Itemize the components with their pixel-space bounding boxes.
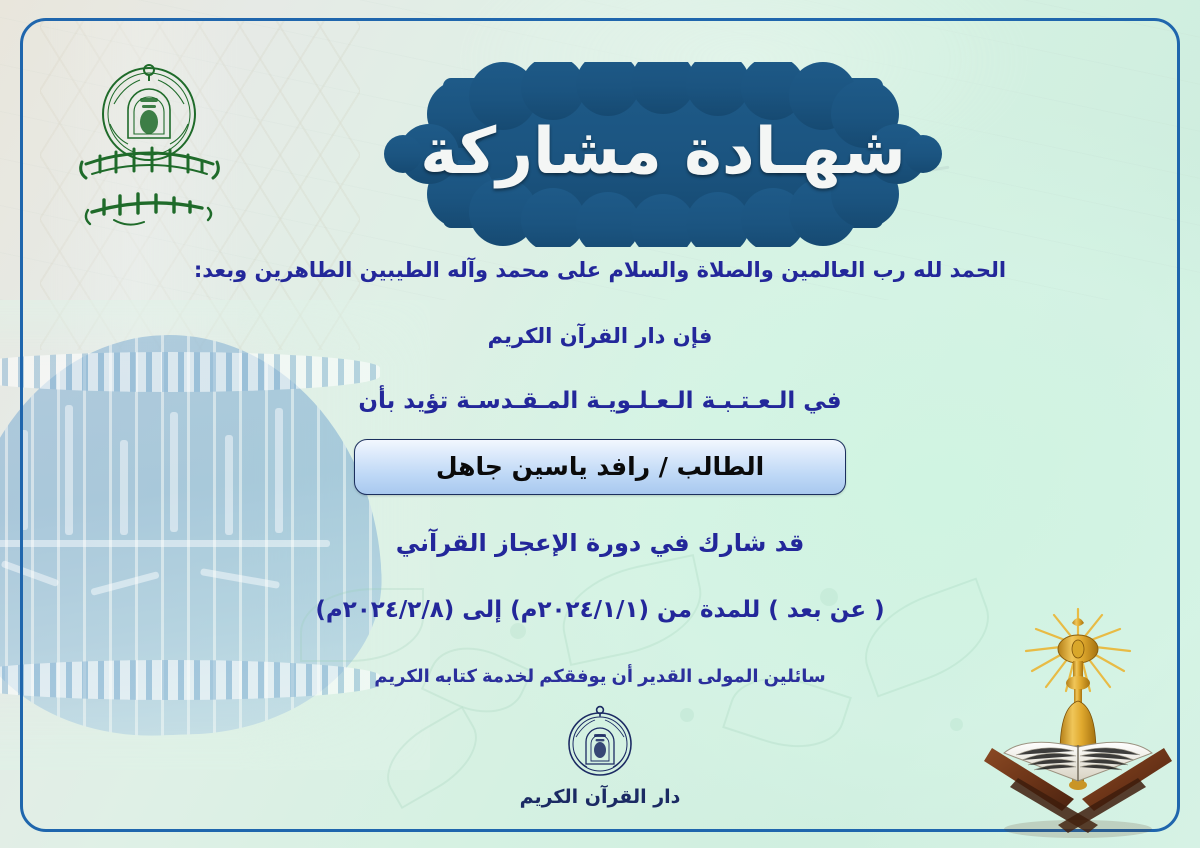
recipient-name-box: الطالب / رافد ياسين جاهل (354, 439, 846, 495)
dar-al-quran-seal-icon (562, 704, 638, 780)
quran-on-rehal-illustration (978, 603, 1178, 838)
course-line: قد شارك في دورة الإعجاز القرآني (60, 525, 1140, 561)
recipient-name: الطالب / رافد ياسين جاهل (436, 452, 764, 481)
organization-line-1: فإن دار القرآن الكريم (60, 321, 1140, 353)
praise-line: الحمد لله رب العالمين والصلاة والسلام عل… (60, 255, 1140, 287)
institution-logo (62, 52, 237, 232)
certificate-page: شهـادة مشاركة الحمد لله رب العالمين والص… (0, 0, 1200, 848)
seal-caption: دار القرآن الكريم (520, 786, 681, 808)
certificate-title: شهـادة مشاركة (383, 62, 943, 247)
title-banner: شهـادة مشاركة (383, 62, 943, 247)
organization-line-2: في الـعـتـبـة الـعـلـويـة المـقـدسـة تؤي… (60, 384, 1140, 419)
